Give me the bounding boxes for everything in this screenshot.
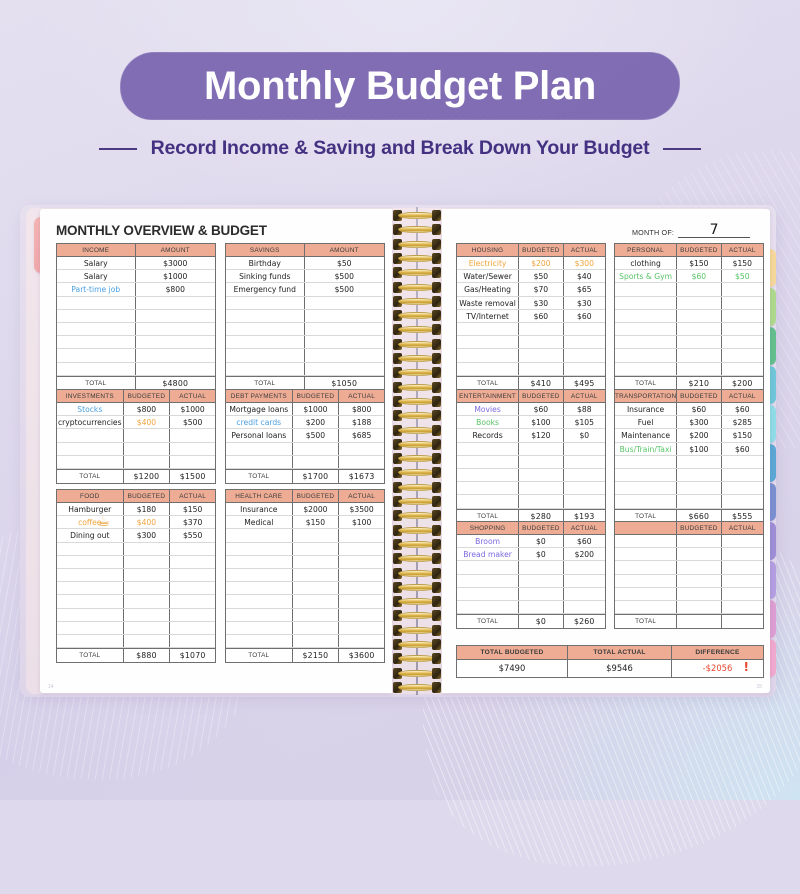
table-cell[interactable] bbox=[292, 635, 339, 647]
table-cell[interactable] bbox=[563, 482, 605, 494]
table-row[interactable] bbox=[457, 349, 605, 362]
table-cell[interactable] bbox=[57, 429, 123, 441]
table-cell[interactable] bbox=[721, 456, 763, 468]
table-cell[interactable] bbox=[563, 443, 605, 455]
table-cell[interactable] bbox=[338, 529, 384, 541]
table-row[interactable]: credit cards$200$188 bbox=[226, 416, 384, 429]
table-row[interactable] bbox=[457, 588, 605, 601]
table-row[interactable] bbox=[57, 543, 215, 556]
table-cell[interactable] bbox=[292, 582, 339, 594]
table-cell[interactable] bbox=[169, 622, 215, 634]
table-cell[interactable]: $50 bbox=[304, 257, 385, 269]
table-row[interactable] bbox=[57, 635, 215, 648]
table-cell[interactable] bbox=[292, 595, 339, 607]
table-cell[interactable] bbox=[563, 469, 605, 481]
table-cell[interactable] bbox=[721, 363, 763, 375]
table-cell[interactable] bbox=[457, 456, 518, 468]
table-cell[interactable] bbox=[135, 297, 216, 309]
table-cell[interactable] bbox=[518, 561, 562, 573]
table-row[interactable]: Insurance$2000$3500 bbox=[226, 503, 384, 516]
table-cell[interactable]: $30 bbox=[518, 297, 562, 309]
table-cell[interactable] bbox=[615, 310, 676, 322]
table-cell[interactable]: $400 bbox=[123, 516, 170, 528]
table-row[interactable] bbox=[615, 601, 763, 614]
table-row[interactable]: cryptocurrencies$400$500 bbox=[57, 416, 215, 429]
table-cell[interactable]: Insurance bbox=[615, 403, 676, 415]
table-cell[interactable] bbox=[226, 443, 292, 455]
table-row[interactable] bbox=[457, 601, 605, 614]
table-cell[interactable] bbox=[721, 575, 763, 587]
table-cell[interactable] bbox=[563, 363, 605, 375]
table-row[interactable] bbox=[57, 363, 215, 376]
table-cell[interactable]: $370 bbox=[169, 516, 215, 528]
table-cell[interactable]: Insurance bbox=[226, 503, 292, 515]
table-row[interactable]: Stocks$800$1000 bbox=[57, 403, 215, 416]
table-cell[interactable]: $300 bbox=[123, 529, 170, 541]
table-row[interactable] bbox=[226, 609, 384, 622]
table-row[interactable] bbox=[615, 336, 763, 349]
table-cell[interactable] bbox=[615, 588, 676, 600]
table-row[interactable] bbox=[226, 595, 384, 608]
table-cell[interactable] bbox=[57, 622, 123, 634]
table-cell[interactable]: $60 bbox=[721, 403, 763, 415]
table-cell[interactable] bbox=[563, 456, 605, 468]
table-row[interactable] bbox=[57, 310, 215, 323]
table-cell[interactable] bbox=[169, 635, 215, 647]
table-cell[interactable] bbox=[169, 443, 215, 455]
table-cell[interactable] bbox=[169, 556, 215, 568]
table-cell[interactable] bbox=[676, 469, 720, 481]
table-row[interactable]: Sinking funds$500 bbox=[226, 270, 384, 283]
table-row[interactable]: Water/Sewer$50$40 bbox=[457, 270, 605, 283]
table-cell[interactable] bbox=[721, 310, 763, 322]
table-cell[interactable]: $300 bbox=[676, 416, 720, 428]
table-row[interactable] bbox=[226, 635, 384, 648]
table-cell[interactable] bbox=[615, 561, 676, 573]
table-cell[interactable] bbox=[457, 575, 518, 587]
table-cell[interactable] bbox=[457, 443, 518, 455]
table-cell[interactable] bbox=[135, 363, 216, 375]
table-cell[interactable]: $150 bbox=[169, 503, 215, 515]
table-row[interactable] bbox=[457, 456, 605, 469]
table-row[interactable] bbox=[226, 569, 384, 582]
table-cell[interactable]: $0 bbox=[518, 535, 562, 547]
table-row[interactable]: Personal loans$500$685 bbox=[226, 429, 384, 442]
table-cell[interactable] bbox=[338, 609, 384, 621]
table-cell[interactable]: $300 bbox=[563, 257, 605, 269]
table-cell[interactable] bbox=[615, 456, 676, 468]
grand-total-value-row[interactable]: $7490$9546-$2056! bbox=[457, 660, 763, 677]
table-cell[interactable] bbox=[123, 543, 170, 555]
table-cell[interactable]: $285 bbox=[721, 416, 763, 428]
table-cell[interactable]: clothing bbox=[615, 257, 676, 269]
table-row[interactable] bbox=[615, 283, 763, 296]
table-row[interactable]: Records$120$0 bbox=[457, 429, 605, 442]
table-cell[interactable] bbox=[457, 323, 518, 335]
table-cell[interactable] bbox=[721, 469, 763, 481]
table-cell[interactable] bbox=[226, 336, 304, 348]
table-cell[interactable] bbox=[615, 283, 676, 295]
table-row[interactable]: Broom$0$60 bbox=[457, 535, 605, 548]
table-cell[interactable] bbox=[721, 495, 763, 507]
table-cell[interactable] bbox=[676, 363, 720, 375]
table-cell[interactable] bbox=[226, 297, 304, 309]
table-row[interactable] bbox=[57, 556, 215, 569]
table-cell[interactable] bbox=[304, 336, 385, 348]
table-cell[interactable] bbox=[338, 556, 384, 568]
table-cell[interactable] bbox=[721, 482, 763, 494]
table-cell[interactable]: Bread maker bbox=[457, 548, 518, 560]
table-cell[interactable] bbox=[676, 456, 720, 468]
table-cell[interactable] bbox=[518, 495, 562, 507]
table-cell[interactable] bbox=[563, 561, 605, 573]
table-cell[interactable] bbox=[304, 349, 385, 361]
table-row[interactable]: Part-time job$800 bbox=[57, 283, 215, 296]
table-row[interactable] bbox=[457, 323, 605, 336]
table-cell[interactable]: $685 bbox=[338, 429, 384, 441]
table-cell[interactable]: Electricity bbox=[457, 257, 518, 269]
table-cell[interactable] bbox=[123, 635, 170, 647]
table-cell[interactable] bbox=[338, 622, 384, 634]
table-cell[interactable]: Sinking funds bbox=[226, 270, 304, 282]
table-cell[interactable]: $150 bbox=[721, 257, 763, 269]
table-row[interactable] bbox=[226, 543, 384, 556]
table-cell[interactable] bbox=[615, 575, 676, 587]
table-cell[interactable] bbox=[518, 443, 562, 455]
table-cell[interactable]: $65 bbox=[563, 283, 605, 295]
table-cell[interactable] bbox=[563, 575, 605, 587]
table-cell[interactable]: $0 bbox=[518, 548, 562, 560]
table-row[interactable] bbox=[615, 575, 763, 588]
table-cell[interactable]: Salary bbox=[57, 270, 135, 282]
table-cell[interactable] bbox=[676, 495, 720, 507]
table-cell[interactable] bbox=[518, 336, 562, 348]
table-cell[interactable]: $500 bbox=[304, 283, 385, 295]
table-cell[interactable]: $1000 bbox=[135, 270, 216, 282]
table-cell[interactable] bbox=[615, 363, 676, 375]
table-cell[interactable] bbox=[57, 349, 135, 361]
table-cell[interactable] bbox=[226, 349, 304, 361]
table-cell[interactable]: Stocks bbox=[57, 403, 123, 415]
table-row[interactable]: Bread maker$0$200 bbox=[457, 548, 605, 561]
table-row[interactable]: Waste removal$30$30 bbox=[457, 297, 605, 310]
table-row[interactable]: Mortgage loans$1000$800 bbox=[226, 403, 384, 416]
table-cell[interactable]: $550 bbox=[169, 529, 215, 541]
table-cell[interactable] bbox=[226, 543, 292, 555]
table-cell[interactable] bbox=[518, 456, 562, 468]
table-cell[interactable] bbox=[57, 323, 135, 335]
table-cell[interactable] bbox=[135, 336, 216, 348]
table-cell[interactable] bbox=[226, 609, 292, 621]
table-row[interactable]: Salary$1000 bbox=[57, 270, 215, 283]
table-row[interactable] bbox=[57, 349, 215, 362]
table-cell[interactable]: $60 bbox=[518, 403, 562, 415]
month-of-value[interactable]: 7 bbox=[678, 223, 750, 238]
table-cell[interactable] bbox=[563, 349, 605, 361]
table-cell[interactable] bbox=[721, 283, 763, 295]
table-cell[interactable] bbox=[57, 582, 123, 594]
table-row[interactable]: TV/Internet$60$60 bbox=[457, 310, 605, 323]
table-row[interactable] bbox=[615, 456, 763, 469]
grand-total-value[interactable]: $7490 bbox=[457, 660, 567, 677]
table-cell[interactable] bbox=[457, 588, 518, 600]
table-cell[interactable] bbox=[676, 575, 720, 587]
table-row[interactable] bbox=[57, 569, 215, 582]
table-row[interactable] bbox=[226, 297, 384, 310]
table-cell[interactable]: $0 bbox=[563, 429, 605, 441]
table-cell[interactable] bbox=[123, 429, 170, 441]
table-cell[interactable] bbox=[676, 336, 720, 348]
table-cell[interactable]: $200 bbox=[563, 548, 605, 560]
table-row[interactable] bbox=[57, 595, 215, 608]
table-row[interactable] bbox=[457, 561, 605, 574]
table-cell[interactable]: $3500 bbox=[338, 503, 384, 515]
table-cell[interactable] bbox=[518, 482, 562, 494]
table-row[interactable]: Movies$60$88 bbox=[457, 403, 605, 416]
table-cell[interactable] bbox=[338, 543, 384, 555]
table-cell[interactable] bbox=[57, 609, 123, 621]
table-cell[interactable] bbox=[457, 601, 518, 613]
table-row[interactable] bbox=[57, 582, 215, 595]
table-cell[interactable]: $100 bbox=[676, 443, 720, 455]
table-cell[interactable]: $1000 bbox=[292, 403, 339, 415]
table-cell[interactable]: $150 bbox=[676, 257, 720, 269]
table-row[interactable] bbox=[57, 429, 215, 442]
table-cell[interactable]: coffee☕ bbox=[57, 516, 123, 528]
table-cell[interactable] bbox=[457, 561, 518, 573]
table-row[interactable]: Hamburger$180$150 bbox=[57, 503, 215, 516]
table-row[interactable] bbox=[226, 443, 384, 456]
table-row[interactable]: Emergency fund$500 bbox=[226, 283, 384, 296]
table-cell[interactable] bbox=[676, 310, 720, 322]
table-cell[interactable]: $400 bbox=[123, 416, 170, 428]
table-row[interactable]: Bus/Train/Taxi$100$60 bbox=[615, 443, 763, 456]
table-row[interactable] bbox=[615, 561, 763, 574]
table-cell[interactable] bbox=[123, 582, 170, 594]
table-cell[interactable] bbox=[123, 595, 170, 607]
table-cell[interactable] bbox=[57, 635, 123, 647]
table-cell[interactable] bbox=[615, 495, 676, 507]
table-cell[interactable] bbox=[457, 469, 518, 481]
table-cell[interactable]: $30 bbox=[563, 297, 605, 309]
table-cell[interactable]: $200 bbox=[676, 429, 720, 441]
table-cell[interactable] bbox=[169, 595, 215, 607]
table-cell[interactable] bbox=[518, 323, 562, 335]
table-cell[interactable] bbox=[338, 569, 384, 581]
table-cell[interactable]: Bus/Train/Taxi bbox=[615, 443, 676, 455]
table-cell[interactable] bbox=[676, 323, 720, 335]
table-row[interactable] bbox=[226, 323, 384, 336]
table-cell[interactable]: Mortgage loans bbox=[226, 403, 292, 415]
table-cell[interactable] bbox=[304, 363, 385, 375]
table-cell[interactable]: $60 bbox=[563, 535, 605, 547]
table-cell[interactable] bbox=[57, 336, 135, 348]
table-cell[interactable]: $100 bbox=[338, 516, 384, 528]
table-cell[interactable]: Books bbox=[457, 416, 518, 428]
table-cell[interactable]: Emergency fund bbox=[226, 283, 304, 295]
table-cell[interactable] bbox=[57, 556, 123, 568]
table-cell[interactable] bbox=[226, 456, 292, 468]
table-cell[interactable] bbox=[615, 548, 676, 560]
table-row[interactable] bbox=[615, 588, 763, 601]
table-cell[interactable]: $60 bbox=[563, 310, 605, 322]
table-row[interactable] bbox=[457, 469, 605, 482]
table-row[interactable] bbox=[457, 443, 605, 456]
table-cell[interactable] bbox=[57, 543, 123, 555]
table-cell[interactable]: Maintenance bbox=[615, 429, 676, 441]
table-cell[interactable] bbox=[135, 310, 216, 322]
table-cell[interactable]: Medical bbox=[226, 516, 292, 528]
table-cell[interactable] bbox=[338, 595, 384, 607]
table-cell[interactable]: $60 bbox=[676, 270, 720, 282]
table-cell[interactable]: Broom bbox=[457, 535, 518, 547]
table-cell[interactable] bbox=[338, 635, 384, 647]
table-cell[interactable] bbox=[226, 323, 304, 335]
table-row[interactable] bbox=[615, 349, 763, 362]
table-row[interactable]: Fuel$300$285 bbox=[615, 416, 763, 429]
table-cell[interactable]: $188 bbox=[338, 416, 384, 428]
table-cell[interactable] bbox=[676, 535, 720, 547]
table-cell[interactable] bbox=[518, 601, 562, 613]
table-row[interactable] bbox=[457, 482, 605, 495]
table-cell[interactable] bbox=[615, 482, 676, 494]
table-row[interactable]: clothing$150$150 bbox=[615, 257, 763, 270]
table-cell[interactable] bbox=[57, 595, 123, 607]
table-row[interactable] bbox=[615, 482, 763, 495]
table-cell[interactable] bbox=[169, 429, 215, 441]
table-cell[interactable] bbox=[676, 601, 720, 613]
table-row[interactable] bbox=[57, 336, 215, 349]
table-cell[interactable] bbox=[615, 349, 676, 361]
table-row[interactable] bbox=[615, 548, 763, 561]
table-cell[interactable]: $88 bbox=[563, 403, 605, 415]
table-cell[interactable]: $150 bbox=[292, 516, 339, 528]
table-cell[interactable]: $800 bbox=[135, 283, 216, 295]
table-row[interactable] bbox=[226, 336, 384, 349]
table-row[interactable]: Sports & Gym$60$50 bbox=[615, 270, 763, 283]
table-cell[interactable] bbox=[226, 622, 292, 634]
table-cell[interactable]: $70 bbox=[518, 283, 562, 295]
table-cell[interactable] bbox=[169, 569, 215, 581]
table-cell[interactable]: $3000 bbox=[135, 257, 216, 269]
table-cell[interactable] bbox=[721, 601, 763, 613]
table-row[interactable]: coffee☕$400$370 bbox=[57, 516, 215, 529]
table-cell[interactable]: $60 bbox=[518, 310, 562, 322]
table-cell[interactable]: $2000 bbox=[292, 503, 339, 515]
table-row[interactable] bbox=[226, 456, 384, 469]
table-row[interactable] bbox=[226, 556, 384, 569]
table-cell[interactable]: $150 bbox=[721, 429, 763, 441]
table-row[interactable] bbox=[615, 310, 763, 323]
table-cell[interactable]: Hamburger bbox=[57, 503, 123, 515]
table-row[interactable] bbox=[226, 363, 384, 376]
table-row[interactable]: Gas/Heating$70$65 bbox=[457, 283, 605, 296]
table-cell[interactable] bbox=[518, 349, 562, 361]
table-cell[interactable]: $60 bbox=[676, 403, 720, 415]
table-cell[interactable] bbox=[226, 556, 292, 568]
table-cell[interactable] bbox=[676, 283, 720, 295]
table-cell[interactable] bbox=[226, 635, 292, 647]
table-row[interactable]: Electricity$200$300 bbox=[457, 257, 605, 270]
table-cell[interactable]: Gas/Heating bbox=[457, 283, 518, 295]
table-row[interactable] bbox=[57, 609, 215, 622]
table-cell[interactable] bbox=[721, 323, 763, 335]
table-cell[interactable] bbox=[57, 297, 135, 309]
table-cell[interactable] bbox=[123, 556, 170, 568]
table-cell[interactable] bbox=[563, 601, 605, 613]
table-cell[interactable] bbox=[457, 495, 518, 507]
table-cell[interactable] bbox=[615, 601, 676, 613]
table-cell[interactable] bbox=[57, 443, 123, 455]
table-cell[interactable]: $800 bbox=[123, 403, 170, 415]
table-cell[interactable] bbox=[57, 569, 123, 581]
table-cell[interactable] bbox=[292, 443, 339, 455]
table-row[interactable] bbox=[57, 456, 215, 469]
table-cell[interactable] bbox=[518, 588, 562, 600]
table-cell[interactable]: $105 bbox=[563, 416, 605, 428]
table-cell[interactable]: Birthday bbox=[226, 257, 304, 269]
table-row[interactable]: Medical$150$100 bbox=[226, 516, 384, 529]
table-row[interactable] bbox=[226, 310, 384, 323]
table-cell[interactable]: Part-time job bbox=[57, 283, 135, 295]
table-cell[interactable] bbox=[292, 556, 339, 568]
table-cell[interactable] bbox=[292, 529, 339, 541]
table-cell[interactable] bbox=[721, 561, 763, 573]
grand-total-value[interactable]: -$2056! bbox=[671, 660, 763, 677]
table-cell[interactable] bbox=[169, 543, 215, 555]
table-row[interactable] bbox=[457, 495, 605, 508]
table-cell[interactable]: Waste removal bbox=[457, 297, 518, 309]
grand-total-value[interactable]: $9546 bbox=[567, 660, 671, 677]
table-cell[interactable] bbox=[676, 561, 720, 573]
table-cell[interactable] bbox=[615, 535, 676, 547]
table-cell[interactable] bbox=[123, 456, 170, 468]
table-cell[interactable] bbox=[226, 569, 292, 581]
table-cell[interactable] bbox=[615, 323, 676, 335]
table-cell[interactable]: Salary bbox=[57, 257, 135, 269]
table-row[interactable] bbox=[615, 363, 763, 376]
table-cell[interactable] bbox=[292, 609, 339, 621]
table-cell[interactable] bbox=[457, 363, 518, 375]
table-cell[interactable]: Dining out bbox=[57, 529, 123, 541]
table-cell[interactable] bbox=[721, 535, 763, 547]
table-cell[interactable] bbox=[226, 310, 304, 322]
table-cell[interactable]: Sports & Gym bbox=[615, 270, 676, 282]
table-cell[interactable] bbox=[615, 469, 676, 481]
table-cell[interactable] bbox=[457, 349, 518, 361]
table-cell[interactable]: $200 bbox=[292, 416, 339, 428]
table-cell[interactable] bbox=[292, 622, 339, 634]
table-cell[interactable] bbox=[338, 456, 384, 468]
table-cell[interactable] bbox=[57, 363, 135, 375]
table-cell[interactable] bbox=[615, 336, 676, 348]
table-cell[interactable] bbox=[721, 336, 763, 348]
table-cell[interactable]: credit cards bbox=[226, 416, 292, 428]
table-cell[interactable] bbox=[292, 543, 339, 555]
table-cell[interactable] bbox=[676, 349, 720, 361]
table-row[interactable] bbox=[615, 297, 763, 310]
table-cell[interactable]: Water/Sewer bbox=[457, 270, 518, 282]
table-cell[interactable]: $60 bbox=[721, 443, 763, 455]
month-of-field[interactable]: MONTH OF: 7 bbox=[632, 223, 750, 238]
table-cell[interactable] bbox=[338, 582, 384, 594]
table-row[interactable] bbox=[615, 323, 763, 336]
table-row[interactable] bbox=[615, 469, 763, 482]
table-cell[interactable] bbox=[518, 469, 562, 481]
table-row[interactable]: Dining out$300$550 bbox=[57, 529, 215, 542]
table-cell[interactable] bbox=[304, 323, 385, 335]
table-cell[interactable] bbox=[457, 336, 518, 348]
